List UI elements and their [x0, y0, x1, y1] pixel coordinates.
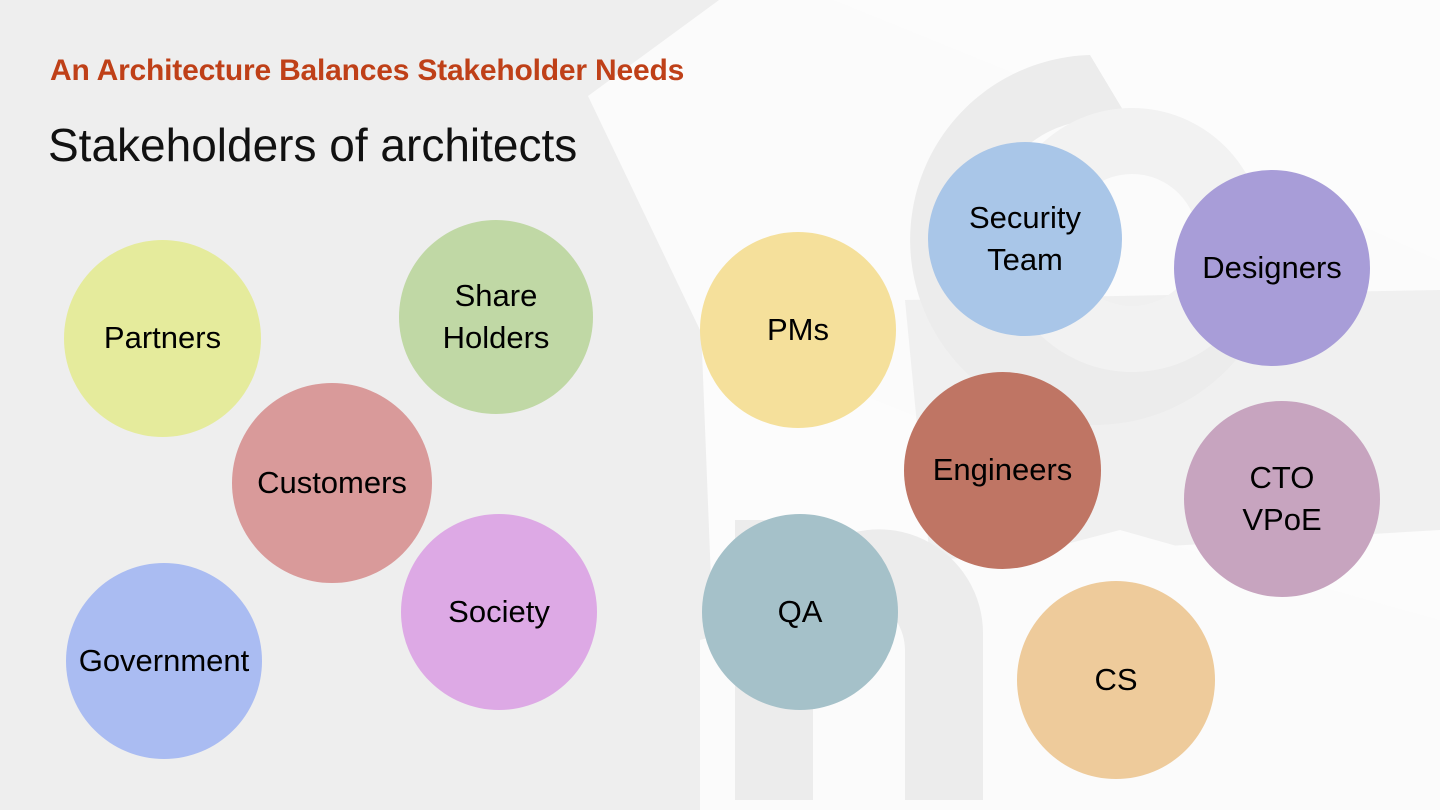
- stakeholder-bubble-label: PMs: [767, 309, 829, 351]
- stakeholder-bubble-cs[interactable]: CS: [1017, 581, 1215, 779]
- stakeholder-bubble-label: Society: [448, 591, 550, 633]
- stakeholder-bubble-label: QA: [778, 591, 823, 633]
- stakeholder-bubble-label: CS: [1094, 659, 1137, 701]
- stakeholder-bubble-qa[interactable]: QA: [702, 514, 898, 710]
- slide-kicker: An Architecture Balances Stakeholder Nee…: [50, 54, 684, 88]
- stakeholder-bubble-customers[interactable]: Customers: [232, 383, 432, 583]
- stakeholder-bubble-partners[interactable]: Partners: [64, 240, 261, 437]
- stakeholder-bubble-label: Partners: [104, 317, 221, 359]
- stakeholder-bubble-share-holders[interactable]: ShareHolders: [399, 220, 593, 414]
- stakeholder-bubble-society[interactable]: Society: [401, 514, 597, 710]
- stakeholder-bubble-label: Customers: [257, 462, 407, 504]
- stakeholder-bubble-designers[interactable]: Designers: [1174, 170, 1370, 366]
- slide-canvas: An Architecture Balances Stakeholder Nee…: [0, 0, 1440, 810]
- stakeholder-bubble-label: Government: [79, 640, 250, 682]
- stakeholder-bubble-label: ShareHolders: [443, 275, 550, 359]
- stakeholder-bubble-pms[interactable]: PMs: [700, 232, 896, 428]
- stakeholder-bubble-label: CTOVPoE: [1242, 457, 1321, 541]
- stakeholder-bubble-cto-vpoe[interactable]: CTOVPoE: [1184, 401, 1380, 597]
- stakeholder-bubble-label: Designers: [1202, 247, 1342, 289]
- stakeholder-bubble-security-team[interactable]: SecurityTeam: [928, 142, 1122, 336]
- stakeholder-bubble-label: Engineers: [933, 449, 1073, 491]
- stakeholder-bubble-label: SecurityTeam: [969, 197, 1081, 281]
- stakeholder-bubble-engineers[interactable]: Engineers: [904, 372, 1101, 569]
- page-title: Stakeholders of architects: [48, 118, 577, 172]
- stakeholder-bubble-government[interactable]: Government: [66, 563, 262, 759]
